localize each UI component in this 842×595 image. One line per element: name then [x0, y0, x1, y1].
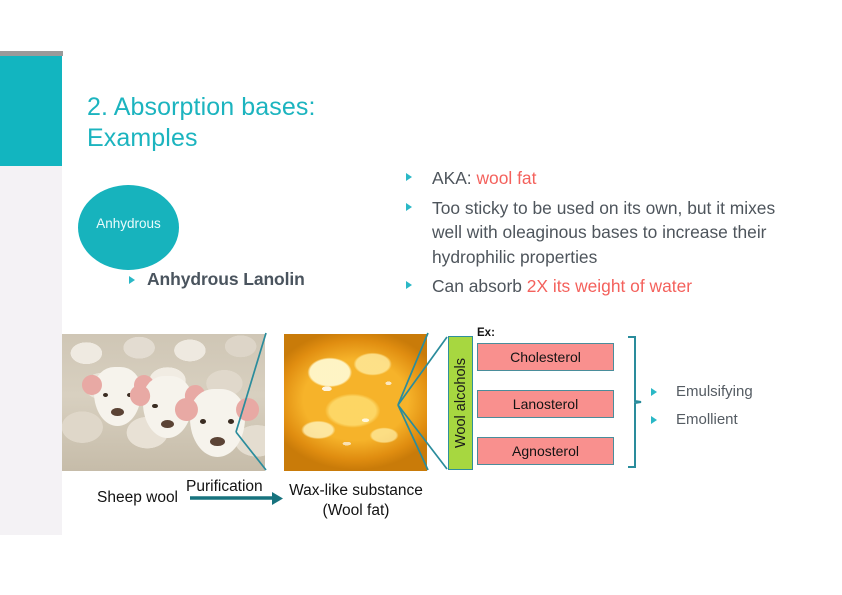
- process-product-label: Wax-like substance (Wool fat): [282, 481, 430, 521]
- left-teal-accent-block: [0, 56, 62, 166]
- process-arrow-label: Purification: [186, 478, 263, 496]
- triangle-bullet-icon: [651, 388, 658, 396]
- bullet-highlight: 2X its weight of water: [527, 276, 692, 296]
- list-item: Too sticky to be used on its own, but it…: [406, 196, 796, 270]
- bullet-list: AKA: wool fat Too sticky to be used on i…: [406, 166, 796, 304]
- anhydrous-lanolin-heading: Anhydrous Lanolin: [147, 269, 305, 290]
- bullet-text: Too sticky to be used on its own, but it…: [432, 196, 796, 270]
- anhydrous-circle: Anhydrous: [78, 185, 179, 270]
- slide-canvas: 2. Absorption bases: Examples Anhydrous …: [0, 0, 842, 595]
- property-item-emollient: Emollient: [651, 411, 738, 429]
- property-label: Emulsifying: [676, 383, 753, 401]
- triangle-bullet-icon: [651, 416, 658, 424]
- triangle-bullet-icon: [406, 281, 413, 289]
- page-title-line-1: 2. Absorption bases:: [87, 92, 507, 123]
- property-label: Emollient: [676, 411, 738, 429]
- list-item: Can absorb 2X its weight of water: [406, 274, 796, 299]
- page-title: 2. Absorption bases: Examples: [87, 92, 507, 154]
- bullet-text: AKA: wool fat: [432, 166, 536, 191]
- sterol-box-agnosterol: Agnosterol: [477, 437, 614, 465]
- wool-alcohols-box: Wool alcohols: [448, 336, 473, 470]
- property-item-emulsifying: Emulsifying: [651, 383, 753, 401]
- list-item: AKA: wool fat: [406, 166, 796, 191]
- anhydrous-circle-label: Anhydrous: [78, 216, 179, 231]
- sterol-box-cholesterol: Cholesterol: [477, 343, 614, 371]
- sheep-flock-photo: [62, 334, 265, 471]
- triangle-bullet-icon: [129, 276, 136, 284]
- wool-fat-photo: [284, 334, 427, 471]
- examples-label: Ex:: [477, 327, 495, 339]
- triangle-bullet-icon: [406, 203, 413, 211]
- anhydrous-lanolin-heading-row: Anhydrous Lanolin: [129, 269, 305, 290]
- sterol-box-lanosterol: Lanosterol: [477, 390, 614, 418]
- process-product-line-2: (Wool fat): [323, 502, 390, 519]
- triangle-bullet-icon: [406, 173, 413, 181]
- process-source-label: Sheep wool: [97, 489, 178, 507]
- process-product-line-1: Wax-like substance: [289, 482, 423, 499]
- bullet-highlight: wool fat: [476, 168, 536, 188]
- wool-alcohols-label: Wool alcohols: [453, 358, 469, 448]
- bullet-text: Can absorb 2X its weight of water: [432, 274, 692, 299]
- left-gray-accent-strip: [0, 166, 62, 535]
- page-title-line-2: Examples: [87, 123, 507, 154]
